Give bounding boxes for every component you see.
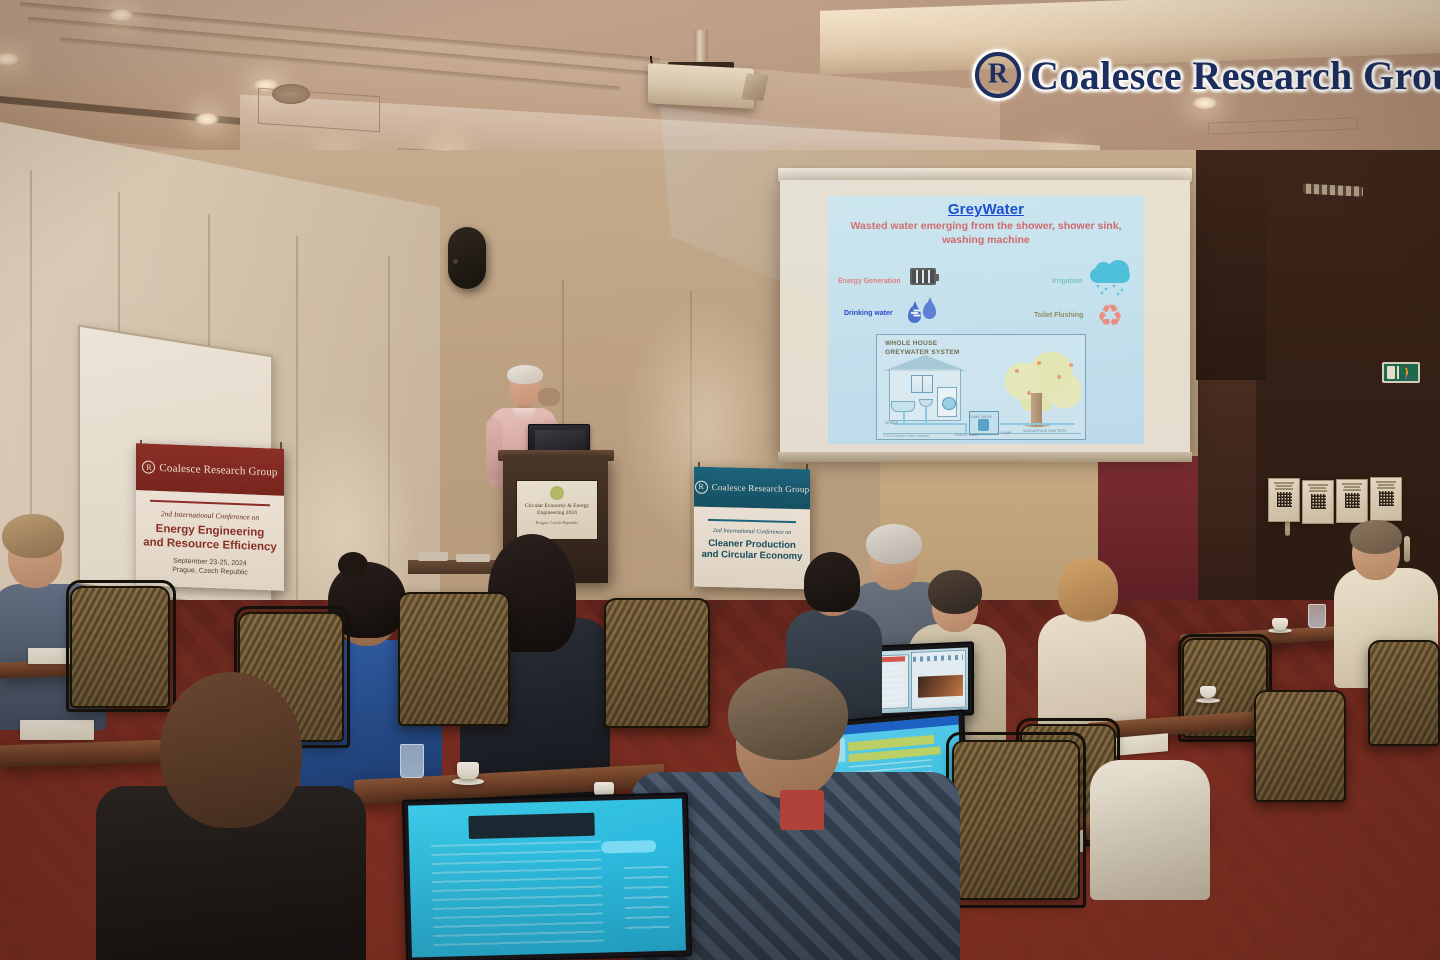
- saucer: [452, 778, 484, 785]
- diagram-label-sewer: SEWER: [885, 421, 898, 425]
- banner-pretitle: 2nd International Conference on: [694, 527, 810, 536]
- coalesce-logo-icon: [975, 52, 1021, 98]
- pipe-vertical-3: [965, 423, 967, 433]
- podium-sign: Circular Economy & Energy Engineering 20…: [516, 480, 598, 540]
- downlight-1: [108, 8, 134, 22]
- attendee-hair: [804, 552, 860, 612]
- banner-brand: Coalesce Research Group: [159, 462, 277, 479]
- qr-code-icon: [1277, 492, 1292, 507]
- attendee-torso: [1090, 760, 1210, 900]
- laurel-emblem-icon: [549, 485, 565, 501]
- podium-sign-line1: Circular Economy & Energy: [525, 503, 589, 510]
- conference-room-photo: 🚶 GreyWater Wasted water emerging from t…: [0, 0, 1440, 960]
- water-drop-icon: [908, 306, 921, 323]
- banner-rule: [708, 519, 796, 523]
- presenter-arm-left: [486, 418, 503, 480]
- water-drop-icon-2: [923, 302, 936, 319]
- podium-sign-line3: Prague, Czech Republic: [536, 520, 578, 526]
- wall-mounted-speaker-icon: [448, 227, 486, 289]
- downlight-3: [194, 112, 220, 126]
- qr-poster-4: [1370, 477, 1402, 521]
- screen-side-column: [623, 866, 669, 934]
- podium-sign-line2: Engineering 2024: [537, 510, 577, 517]
- banner-rule: [150, 500, 270, 506]
- laptop-foreground[interactable]: [402, 792, 692, 960]
- qr-code-icon: [1311, 494, 1326, 509]
- attendee-hair: [1058, 558, 1118, 620]
- ceiling-projector-icon: [648, 63, 754, 109]
- attendee-hair: [1350, 520, 1402, 554]
- attendee-foreground-left: [96, 656, 366, 960]
- greywater-system-diagram: WHOLE HOUSE GREYWATER SYSTEM SEW: [876, 334, 1086, 440]
- laptop-foreground-screen[interactable]: [408, 798, 686, 957]
- battery-icon: [910, 268, 936, 285]
- qr-code-icon: [1379, 491, 1394, 506]
- projection-screen-bottom-bar: [778, 452, 1192, 462]
- banner-header-blue: Coalesce Research Group: [694, 467, 810, 510]
- slide-label-toilet-flushing: Toilet Flushing: [1034, 312, 1083, 319]
- attendee-hair-bun: [338, 552, 368, 578]
- screen-form-rows: [431, 840, 604, 948]
- qr-code-icon: [1345, 493, 1360, 508]
- paper-document: [20, 720, 94, 740]
- coalesce-logo-icon: [142, 460, 155, 473]
- banner-energy-engineering: Coalesce Research Group 2nd Internationa…: [136, 443, 284, 591]
- washing-machine-icon: [937, 387, 957, 417]
- diagram-credit: © 2016 Rainbow Water Systems: [883, 434, 929, 438]
- exit-door-icon: [1387, 366, 1395, 379]
- projector-mount-pole: [694, 30, 708, 64]
- water-glass: [400, 744, 424, 778]
- attendee-hair: [728, 668, 848, 760]
- ceiling-air-vent-3: [1208, 117, 1358, 134]
- rain-cloud-icon: [1090, 260, 1130, 283]
- slide-label-energy-generation: Energy Generation: [838, 278, 901, 285]
- coffee-cup: [1272, 618, 1288, 630]
- water-glass: [1308, 604, 1326, 628]
- right-wall-upper-dark-panel: [1196, 150, 1266, 380]
- exit-bar-icon: [1397, 366, 1399, 379]
- emergency-exit-sign: 🚶: [1382, 362, 1420, 383]
- slide-title: GreyWater: [828, 201, 1144, 218]
- rain-drops-icon: [1094, 284, 1128, 297]
- watermark-coalesce-research-group: Coalesce Research Group: [975, 44, 1440, 106]
- presentation-slide: GreyWater Wasted water emerging from the…: [828, 196, 1144, 444]
- chair: [1368, 640, 1440, 746]
- coffee-cup: [457, 762, 479, 779]
- screen-header-block: [469, 813, 596, 839]
- chair-frame: [946, 732, 1086, 908]
- banner-header-red: Coalesce Research Group: [136, 443, 284, 496]
- attendee-right-2: [1090, 690, 1210, 890]
- qr-poster-1: [1268, 478, 1300, 522]
- attendee-hair: [2, 514, 64, 558]
- attendee-hair: [928, 570, 982, 614]
- slide-label-irrigation: Irrigation: [1052, 278, 1082, 285]
- pump-icon: [978, 419, 989, 431]
- screen-action-pill: [601, 840, 656, 854]
- chair: [1254, 690, 1346, 802]
- running-man-icon: 🚶: [1400, 367, 1415, 379]
- slide-subtitle: Wasted water emerging from the shower, s…: [834, 220, 1138, 248]
- slide-label-drinking-water: Drinking water: [844, 310, 893, 317]
- chair: [398, 592, 510, 726]
- lanyard: [780, 790, 824, 830]
- house-window-illustration: [911, 375, 933, 393]
- banner-brand: Coalesce Research Group: [712, 482, 810, 494]
- attendee-head: [160, 672, 302, 828]
- diagram-label-three-way-valve: 3-WAY VALVE: [969, 415, 992, 419]
- watermark-brand-text: Coalesce Research Group: [1030, 52, 1440, 99]
- recycle-icon: ♻: [1094, 302, 1126, 332]
- banner-body-red: 2nd International Conference on Energy E…: [136, 490, 284, 591]
- coalesce-logo-icon: [695, 480, 708, 493]
- banner-pretitle: 2nd International Conference on: [136, 508, 284, 523]
- presenter-hair: [507, 365, 543, 384]
- tree-trunk-illustration: [1031, 393, 1042, 427]
